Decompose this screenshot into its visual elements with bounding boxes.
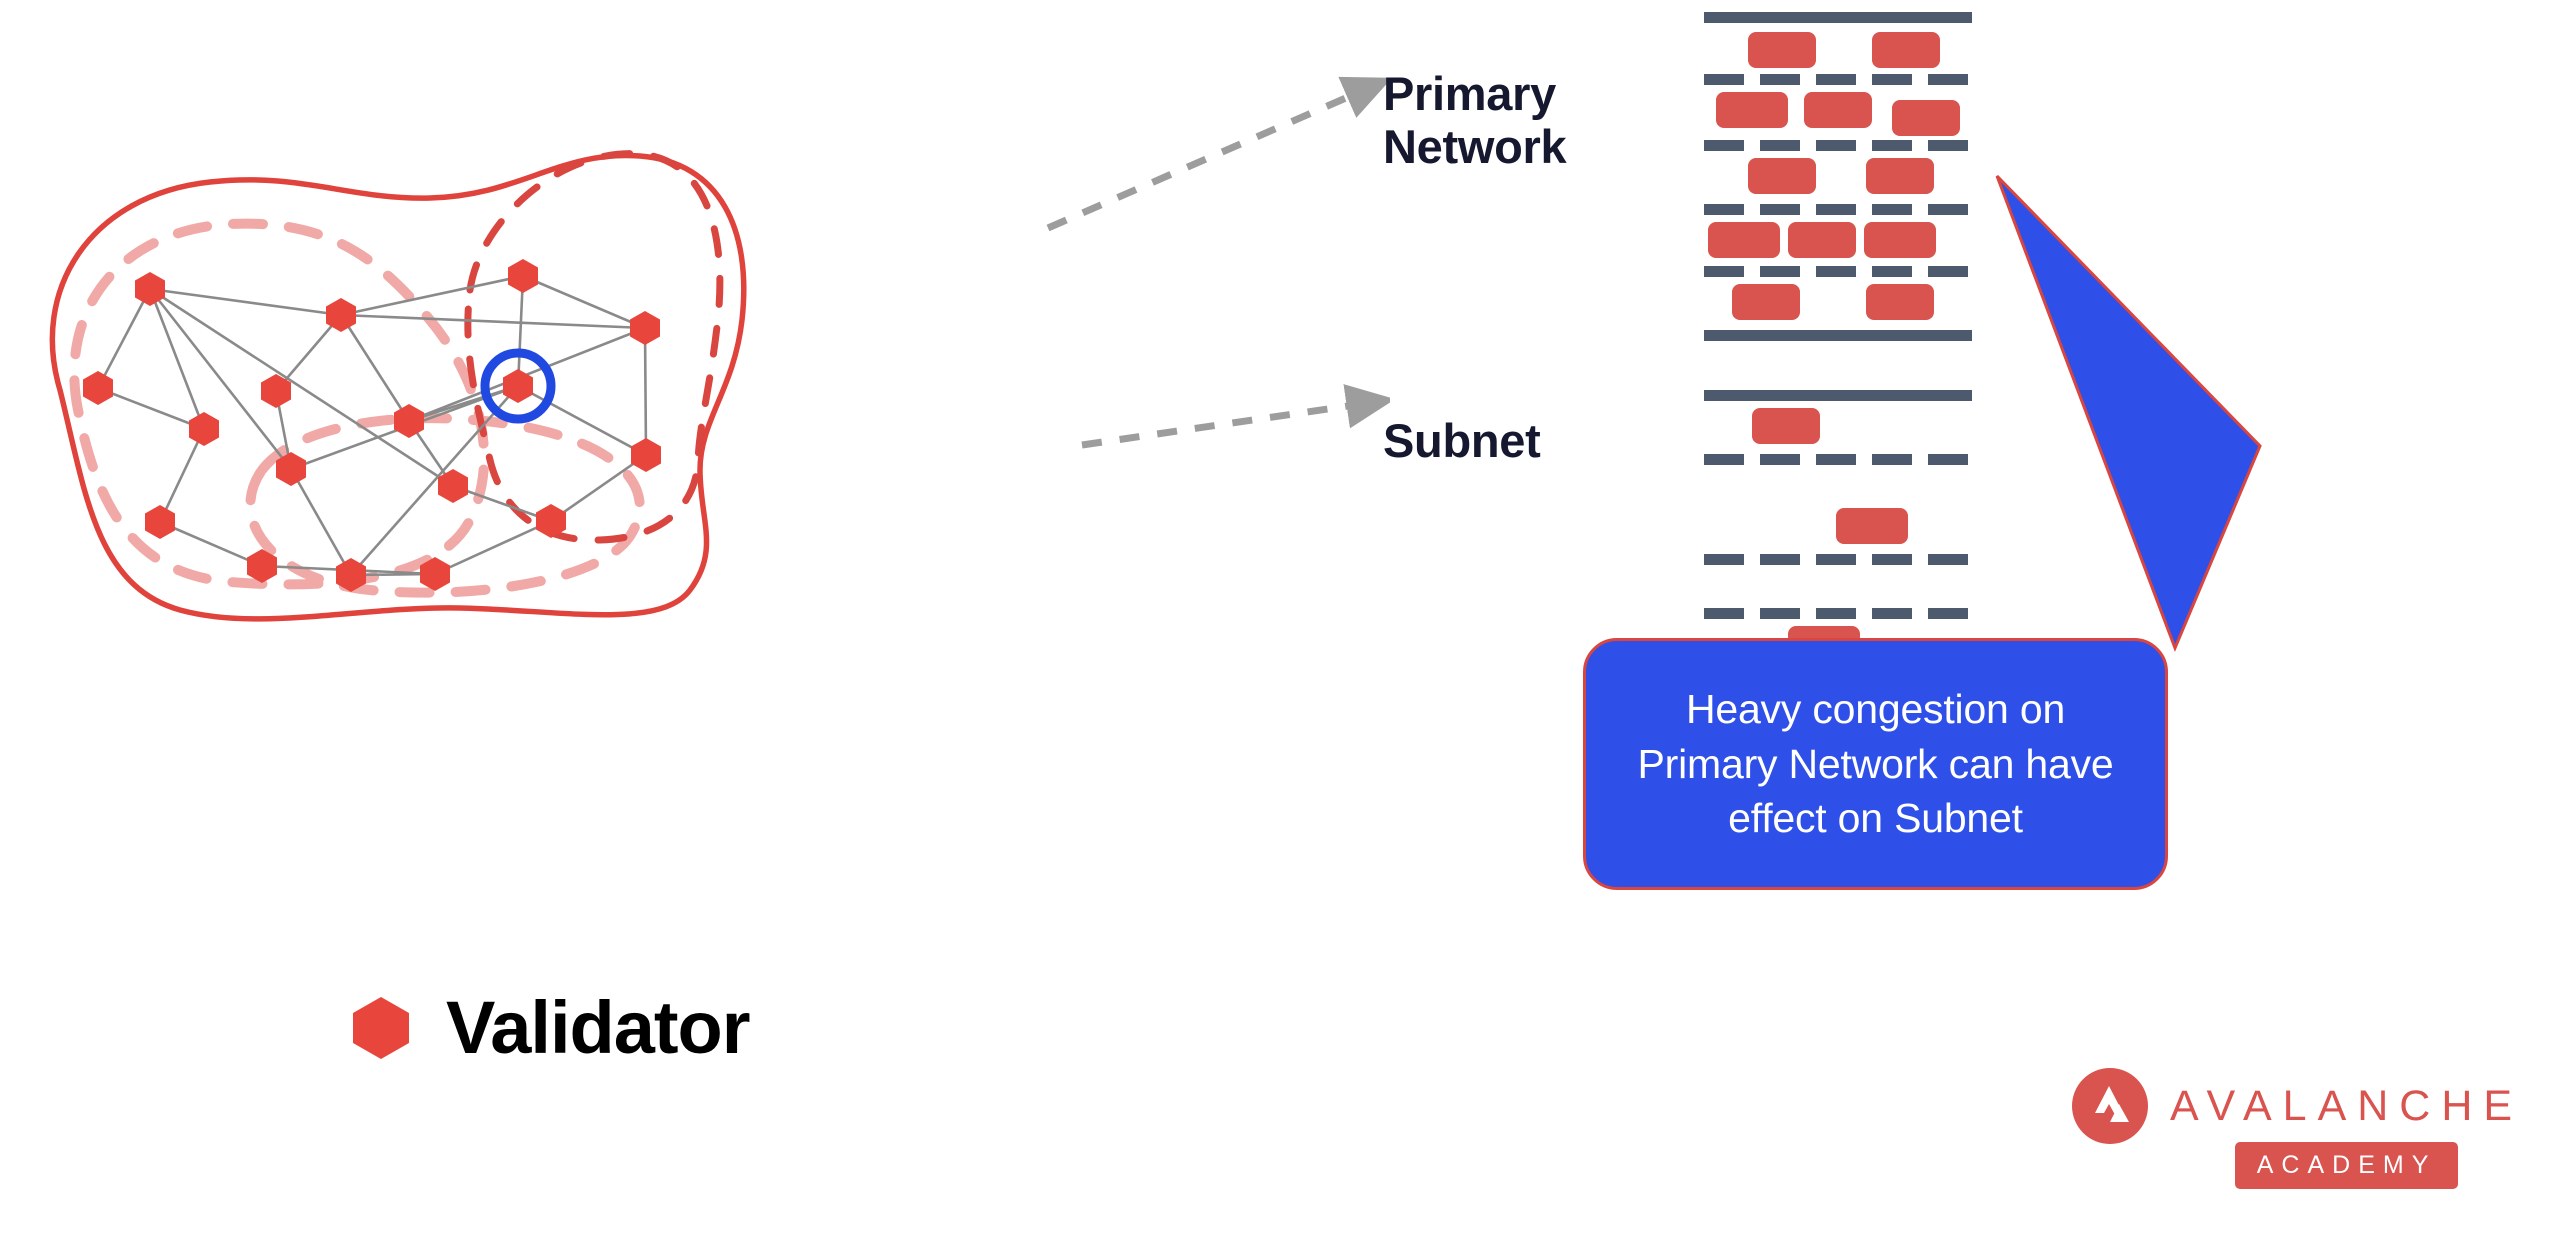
primary-network-traffic-block bbox=[1704, 12, 1972, 341]
validator-node[interactable] bbox=[630, 311, 660, 345]
validator-node[interactable] bbox=[631, 438, 661, 472]
avalanche-mark-icon bbox=[2072, 1068, 2148, 1144]
validator-node[interactable] bbox=[508, 259, 538, 293]
academy-badge: ACADEMY bbox=[2235, 1142, 2459, 1189]
validator-node[interactable] bbox=[189, 412, 219, 446]
subnet-label: Subnet bbox=[1383, 415, 1540, 468]
validator-node[interactable] bbox=[394, 404, 424, 438]
avalanche-academy-logo: AVALANCHE ACADEMY bbox=[2072, 1068, 2523, 1189]
pointer-arrows bbox=[1030, 60, 1390, 480]
avalanche-wordmark: AVALANCHE bbox=[2170, 1068, 2523, 1128]
validator-node[interactable] bbox=[83, 371, 113, 405]
network-boundary-outline bbox=[52, 155, 743, 618]
callout-text: Heavy congestion on Primary Network can … bbox=[1586, 682, 2165, 846]
congestion-callout-box: Heavy congestion on Primary Network can … bbox=[1583, 638, 2168, 890]
validator-network-graph bbox=[0, 90, 800, 670]
validator-legend: Validator bbox=[352, 985, 750, 1070]
diagram-canvas: Primary Network Subnet bbox=[0, 0, 2558, 1258]
validator-legend-label: Validator bbox=[446, 985, 750, 1070]
primary-network-label: Primary Network bbox=[1383, 68, 1566, 173]
dashed-arrow-to-primary-network bbox=[1048, 94, 1355, 228]
dashed-arrow-to-subnet bbox=[1082, 405, 1355, 445]
validator-node[interactable] bbox=[438, 469, 468, 503]
network-traffic-visualization bbox=[1700, 8, 1980, 508]
validator-node[interactable] bbox=[145, 505, 175, 539]
hexagon-icon bbox=[352, 996, 410, 1060]
callout-tail bbox=[1960, 168, 2280, 658]
subnet-traffic-block bbox=[1704, 390, 1972, 465]
